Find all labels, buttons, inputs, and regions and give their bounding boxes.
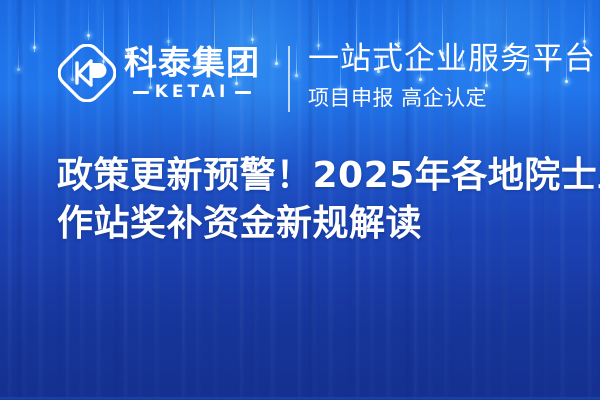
brand-wordmark: 科泰集团 KETAI: [124, 46, 260, 101]
ketai-diamond-kp-logo-icon: [58, 44, 116, 102]
brand-logo: 科泰集团 KETAI: [58, 44, 260, 102]
background-bottom-shade: [0, 250, 600, 400]
headline-line-2: 作站奖补资金新规解读: [57, 200, 567, 248]
tagline-primary: 一站式企业服务平台: [308, 42, 596, 77]
headline-block: 政策更新预警！2025年各地院士工 作站奖补资金新规解读: [57, 152, 567, 247]
brand-name-en-row: KETAI: [133, 84, 252, 101]
dash-right-icon: [235, 91, 251, 94]
brand-tagline: 一站式企业服务平台 项目申报 高企认定: [308, 42, 596, 112]
vertical-divider: [288, 46, 290, 112]
headline-line-1: 政策更新预警！2025年各地院士工: [57, 152, 567, 200]
brand-name-cn: 科泰集团: [124, 46, 260, 79]
tagline-secondary: 项目申报 高企认定: [308, 82, 596, 112]
dash-left-icon: [133, 91, 149, 94]
article-hero-banner: 科泰集团 KETAI 一站式企业服务平台 项目申报 高企认定 政策更新预警！20…: [0, 0, 600, 400]
brand-name-en: KETAI: [155, 84, 230, 101]
brand-header-row: 科泰集团 KETAI 一站式企业服务平台 项目申报 高企认定: [0, 44, 600, 116]
